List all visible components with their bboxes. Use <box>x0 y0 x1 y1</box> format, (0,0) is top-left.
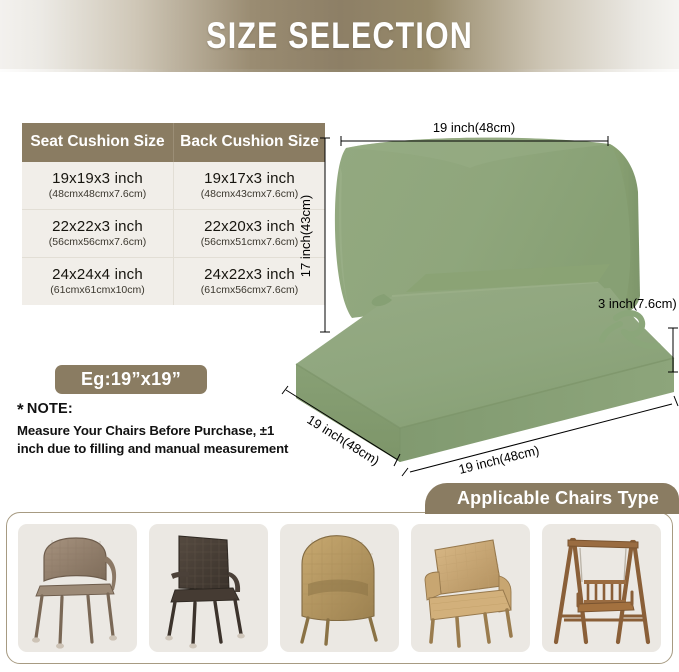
page-title: SIZE SELECTION <box>206 15 473 57</box>
cushion-illustration: 19 inch(48cm) 17 inch(43cm) 3 inch(7.6cm… <box>280 96 679 481</box>
note-block: *NOTE: Measure Your Chairs Before Purcha… <box>17 400 292 458</box>
page-header-band: SIZE SELECTION <box>0 0 679 72</box>
dim-back-height: 17 inch(43cm) <box>298 195 313 277</box>
note-body: Measure Your Chairs Before Purchase, ±1 … <box>17 422 292 458</box>
seat-size-inch: 22x22x3 inch <box>26 218 169 235</box>
dim-seat-depth: 19 inch(48cm) <box>457 442 541 476</box>
column-header-seat-cushion-size: Seat Cushion Size <box>22 123 174 162</box>
cell-seat-size: 19x19x3 inch (48cmx48cmx7.6cm) <box>22 162 174 210</box>
chair-thumbnail-natural-wicker-armchair <box>411 524 530 652</box>
cell-seat-size: 22x22x3 inch (56cmx56cmx7.6cm) <box>22 209 174 257</box>
dark-wicker-dining-chair-icon <box>149 524 268 652</box>
natural-wicker-armchair-icon <box>411 524 530 652</box>
seat-size-inch: 24x24x4 inch <box>26 266 169 283</box>
chair-thumbnail-rattan-bistro-armchair <box>18 524 137 652</box>
seat-size-cm: (48cmx48cmx7.6cm) <box>26 188 169 200</box>
chair-thumbnail-tan-barrel-wicker-chair <box>280 524 399 652</box>
tan-barrel-wicker-chair-icon <box>280 524 399 652</box>
seat-size-cm: (61cmx61cmx10cm) <box>26 284 169 296</box>
chair-thumbnail-dark-wicker-dining-chair <box>149 524 268 652</box>
note-heading-label: NOTE: <box>27 401 73 417</box>
chair-thumbnail-wooden-porch-swing <box>542 524 661 652</box>
seat-size-cm: (56cmx56cmx7.6cm) <box>26 236 169 248</box>
cell-seat-size: 24x24x4 inch (61cmx61cmx10cm) <box>22 257 174 305</box>
example-size-badge: Eg:19”x19” <box>55 365 207 394</box>
rattan-bistro-armchair-icon <box>18 524 137 652</box>
dim-back-width: 19 inch(48cm) <box>433 120 515 135</box>
wooden-porch-swing-icon <box>542 524 661 652</box>
example-size-label: Eg:19”x19” <box>81 369 181 390</box>
note-heading: *NOTE: <box>17 400 292 420</box>
applicable-chairs-label: Applicable Chairs Type <box>457 488 659 509</box>
asterisk-icon: * <box>17 400 24 419</box>
applicable-chairs-banner: Applicable Chairs Type <box>425 483 679 514</box>
dim-seat-thickness: 3 inch(7.6cm) <box>598 296 677 311</box>
applicable-chairs-container <box>6 512 673 664</box>
seat-size-inch: 19x19x3 inch <box>26 170 169 187</box>
